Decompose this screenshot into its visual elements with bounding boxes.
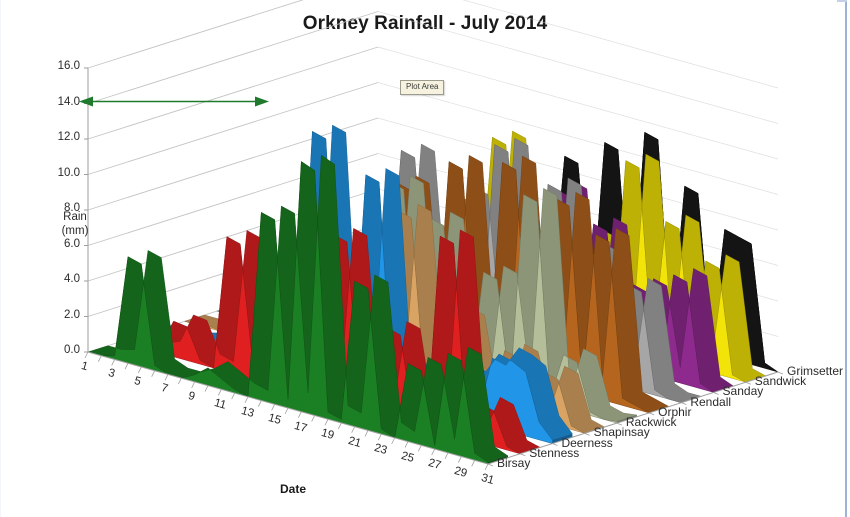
measurement-arrow-annotation[interactable] bbox=[79, 97, 269, 107]
series-label[interactable]: Birsay bbox=[497, 456, 530, 470]
chart-plot-3d[interactable] bbox=[0, 0, 850, 517]
y-axis-title-line: (mm) bbox=[47, 224, 103, 238]
y-axis-tick-label: 2.0 bbox=[36, 309, 80, 321]
series-label[interactable]: Grimsetter bbox=[787, 364, 843, 378]
series-label[interactable]: Orphir bbox=[658, 405, 691, 419]
y-axis-tick-label: 14.0 bbox=[36, 96, 80, 108]
chart-screenshot: Orkney Rainfall - July 2014 Rain(mm) Dat… bbox=[0, 0, 850, 517]
x-axis-title: Date bbox=[243, 482, 343, 496]
y-axis-tick-label: 4.0 bbox=[36, 273, 80, 285]
y-axis-tick-label: 6.0 bbox=[36, 238, 80, 250]
y-axis-tick-label: 16.0 bbox=[36, 60, 80, 72]
y-axis-title: Rain(mm) bbox=[47, 210, 103, 238]
y-axis-tick-label: 12.0 bbox=[36, 131, 80, 143]
y-axis-tick-label: 10.0 bbox=[36, 167, 80, 179]
y-axis-tick-label: 8.0 bbox=[36, 202, 80, 214]
y-axis-tick-label: 0.0 bbox=[36, 344, 80, 356]
plot-area-tooltip: Plot Area bbox=[400, 80, 444, 95]
